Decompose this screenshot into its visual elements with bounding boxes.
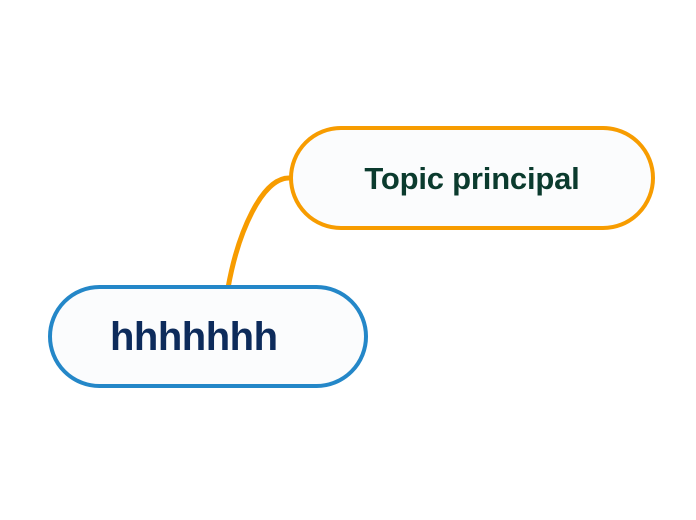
connector-layer: [0, 0, 696, 520]
node-topic-principal[interactable]: Topic principal: [289, 126, 655, 230]
node-child-h[interactable]: hhhhhhh: [48, 285, 368, 388]
connector-root-to-child: [228, 178, 289, 288]
mindmap-canvas[interactable]: Topic principal hhhhhhh: [0, 0, 696, 520]
node-child-h-label: hhhhhhh: [110, 317, 278, 357]
node-topic-principal-label: Topic principal: [364, 163, 579, 194]
